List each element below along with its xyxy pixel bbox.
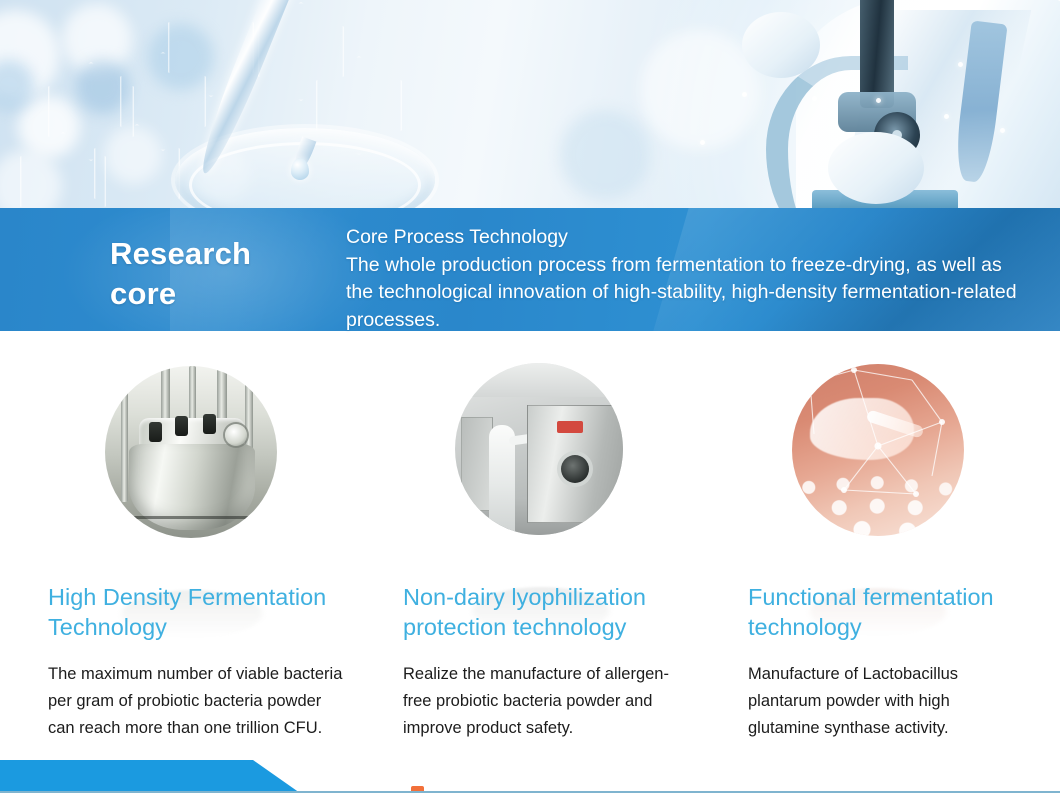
hero-banner xyxy=(0,0,1060,208)
freeze-dryer-illustration xyxy=(455,363,623,535)
card-body: Manufacture of Lactobacillus plantarum p… xyxy=(748,661,1018,742)
sparkle-dot xyxy=(700,140,705,145)
card-body: The maximum number of viable bacteria pe… xyxy=(48,661,348,742)
fermenter-illustration xyxy=(105,366,277,538)
footer-blue-shape xyxy=(0,760,300,793)
feature-cards: High Density Fermentation Technology The… xyxy=(0,331,1060,751)
sparkle-dot xyxy=(958,62,963,67)
sparkle-dot xyxy=(1000,128,1005,133)
card-heading: High Density Fermentation Technology xyxy=(48,582,378,642)
freeze-dryer-cleanroom-photo xyxy=(455,363,623,535)
footer-accent-bar xyxy=(0,760,1060,793)
feature-card: Non-dairy lyophilization protection tech… xyxy=(395,331,715,526)
door-warning-label xyxy=(557,421,583,433)
door-viewport-icon xyxy=(561,455,589,483)
band-text-block: Core Process Technology The whole produc… xyxy=(346,224,1026,334)
card-body: Realize the manufacture of allergen-free… xyxy=(403,661,683,742)
band-heading: Core Process Technology xyxy=(346,224,1026,252)
card-heading: Non-dairy lyophilization protection tech… xyxy=(403,582,713,642)
fermentation-tank-photo xyxy=(105,366,277,538)
band-title-line1: Research xyxy=(110,234,340,274)
sparkle-dot xyxy=(742,92,747,97)
sparkle-dot xyxy=(944,114,949,119)
lab-illustration xyxy=(792,364,964,536)
hand-icon xyxy=(828,132,924,204)
card-image-area xyxy=(40,331,380,526)
lab-well-plate-photo xyxy=(792,364,964,536)
tank-seam xyxy=(113,516,269,519)
hand-icon xyxy=(742,12,820,78)
pressure-gauge-icon xyxy=(225,424,247,446)
feature-card: High Density Fermentation Technology The… xyxy=(40,331,380,526)
sparkle-dot xyxy=(876,98,881,103)
band-description: The whole production process from fermen… xyxy=(346,252,1026,335)
network-overlay-icon xyxy=(792,364,964,536)
card-image-area xyxy=(395,331,715,526)
sparkle-dot xyxy=(812,96,817,101)
card-image-area xyxy=(740,331,1040,526)
cleanroom-ceiling xyxy=(455,363,623,397)
card-heading: Functional fermentation technology xyxy=(748,582,1048,642)
droplet-icon xyxy=(291,158,309,180)
band-title: Research core xyxy=(110,234,340,314)
feature-card: Functional fermentation technology Manuf… xyxy=(740,331,1040,526)
band-title-line2: core xyxy=(110,274,340,314)
